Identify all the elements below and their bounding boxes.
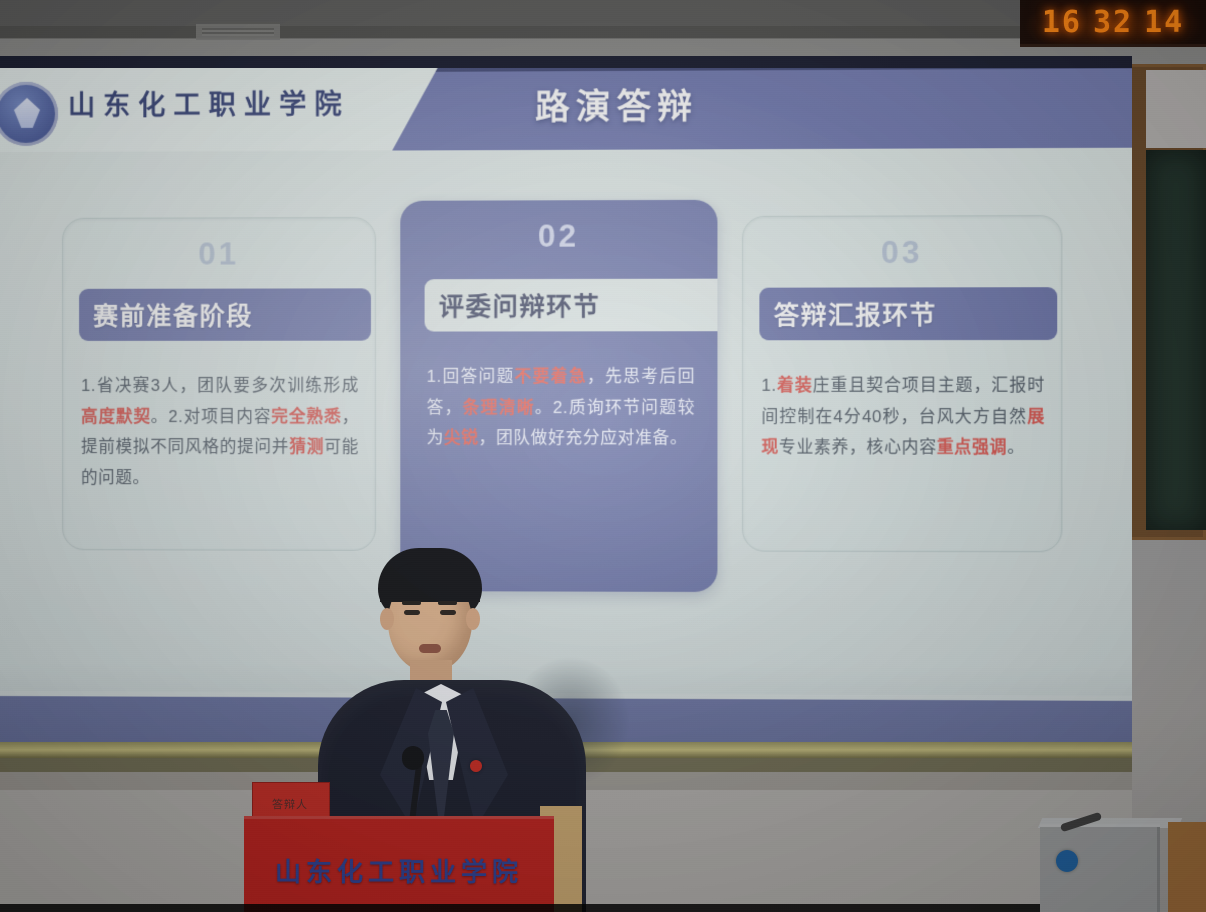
presenter-eye-right [440,610,456,615]
line-highlight: 不要着急 [515,368,587,386]
clock-hours: 16 [1042,5,1082,40]
card-body-text: 1.省决赛3人，团队要多次训练形成高度默契。2.对项目内容完全熟悉，提前模拟不同… [81,371,359,494]
line-prefix: 2.对项目内容 [168,408,271,426]
presenter-mouth [419,644,441,653]
line-prefix: 然 [1009,408,1027,426]
line-prefix: 1.省决赛3人，团队要多次训练形成 [81,377,359,395]
digital-clock: 16 32 14 [1020,0,1206,47]
slide-card-02: 02 评委问辩环节 1.回答问题不要着急，先思考后回答，条理清晰。2.质询环节问… [400,200,717,592]
line-highlight: 高度默契 [81,408,151,426]
line-highlight: 完全熟悉 [271,408,341,426]
line-prefix: 1. [761,377,776,395]
ceiling-strip [0,26,1030,38]
slide-card-03: 03 答辩汇报环节 1.着装庄重且契合项目主题，汇报时间控制在4分40秒，台风大… [742,215,1062,552]
chalkboard-upper-panel [1146,70,1206,148]
podium-placard-text: 答辩人 [252,796,328,812]
screen-top-bezel [0,56,1132,68]
card-label-band: 答辩汇报环节 [759,287,1057,340]
line-highlight: 猜测 [289,438,324,456]
card-label-text: 评委问辩环节 [439,287,600,324]
line-suffix: 。 [151,408,168,426]
podium-banner-text: 山东化工职业学院 [244,852,554,889]
chalkboard-surface [1146,150,1206,530]
wooden-panel [1168,822,1206,912]
line-prefix: 1.回答问题 [427,368,515,386]
bottom-edge [0,904,1040,912]
cabinet-badge-icon [1056,850,1078,872]
card-label-text: 赛前准备阶段 [93,297,253,333]
line-highlight: 重点强调 [937,438,1007,456]
line-suffix: 。 [1007,439,1025,457]
slide-title: 路演答辩 [0,76,1132,131]
card-body-text: 1.回答问题不要着急，先思考后回答，条理清晰。2.质询环节问题较为尖锐，团队做好… [427,362,695,454]
clock-minutes: 32 [1093,5,1133,40]
card-number: 01 [63,236,375,273]
presenter-badge-pin [470,760,482,772]
presenter-eye-left [404,610,420,615]
card-label-band: 赛前准备阶段 [79,288,371,341]
line-suffix: 。 [535,398,553,416]
line-highlight: 条理清晰 [463,398,535,416]
classroom-scene: 16 32 14 山东化工职业学院 路演答辩 01 赛前准备 [0,0,1206,912]
card-label-band: 评委问辩环节 [425,279,718,332]
presenter-ear-left [380,608,394,630]
presenter-brow-left [402,601,421,605]
card-number: 03 [743,234,1061,271]
line-suffix: ，团队做好充分应对准备。 [479,429,688,447]
line-suffix: 专业素养，核心内容 [779,438,937,456]
slide-card-01: 01 赛前准备阶段 1.省决赛3人，团队要多次训练形成高度默契。2.对项目内容完… [62,217,376,551]
presenter-ear-right [466,608,480,630]
card-label-text: 答辩汇报环节 [774,295,937,332]
line-highlight: 着装 [777,377,813,395]
presenter-brow-right [438,601,457,605]
clock-seconds: 14 [1144,5,1184,40]
ceiling-vent [196,22,280,40]
card-number: 02 [400,218,717,255]
card-body-text: 1.着装庄重且契合项目主题，汇报时间控制在4分40秒，台风大方自然展现专业素养，… [761,370,1044,463]
line-highlight: 尖锐 [444,429,479,447]
microphone-head [402,746,424,770]
